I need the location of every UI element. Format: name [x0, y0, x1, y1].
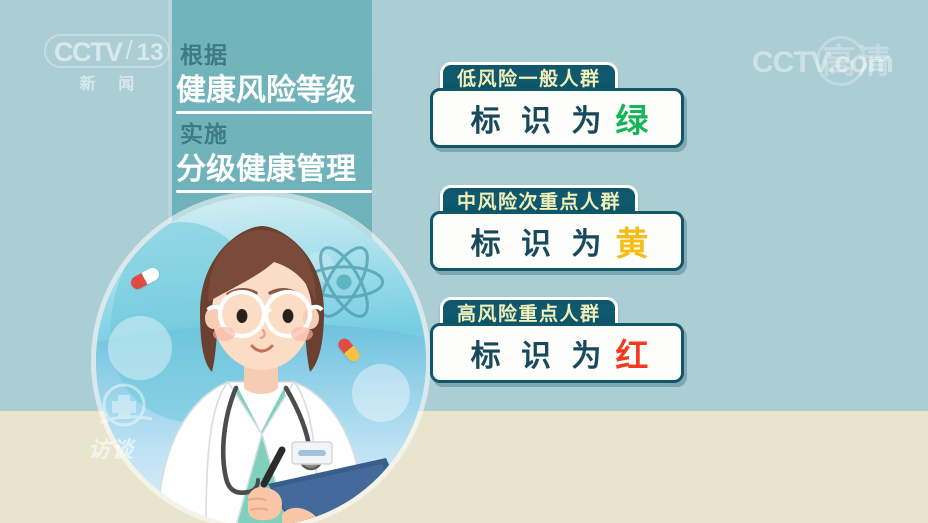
- medical-cross-badge-icon: [96, 383, 158, 433]
- headline-line-3: 实施: [172, 119, 376, 150]
- risk-card-low-value: 绿: [615, 94, 649, 142]
- program-watermark: 访谈: [88, 432, 134, 464]
- risk-card-medium-value: 黄: [615, 217, 649, 265]
- headline-line-2: 健康风险等级: [172, 71, 376, 110]
- risk-card-medium-body: 标 识 为 黄: [430, 211, 684, 271]
- headline-rule-2: [176, 190, 372, 193]
- doctor-illustration-circle: [96, 196, 426, 523]
- doctor-figure: [96, 196, 426, 523]
- risk-card-high-value: 红: [615, 329, 649, 377]
- broadcast-screenshot: CCTV / 13 新 闻 根据 健康风险等级 实施 分级健康管理 高清 CCT…: [0, 0, 928, 523]
- headline-line-4: 分级健康管理: [172, 150, 376, 189]
- logo-channel-number: 13: [137, 39, 164, 67]
- risk-card-low-body: 标 识 为 绿: [430, 88, 684, 148]
- logo-slash-icon: /: [126, 35, 133, 66]
- risk-card-low-label: 标 识 为: [465, 96, 608, 140]
- headline-rule-1: [176, 111, 372, 114]
- logo-cctv-text: CCTV: [54, 37, 122, 68]
- risk-card-high-body: 标 识 为 红: [430, 323, 684, 383]
- cctv-com-watermark: CCTV.com: [752, 46, 893, 80]
- risk-card-low-header-text: 低风险一般人群: [457, 70, 601, 89]
- headline-line-1: 根据: [172, 40, 376, 71]
- cctv13-logo: CCTV / 13 新 闻: [44, 32, 170, 94]
- headline-block: 根据 健康风险等级 实施 分级健康管理: [172, 40, 376, 198]
- risk-card-high-header-text: 高风险重点人群: [457, 305, 601, 324]
- logo-subtitle: 新 闻: [44, 70, 170, 94]
- risk-card-medium-label: 标 识 为: [465, 219, 608, 263]
- risk-card-high-label: 标 识 为: [465, 331, 608, 375]
- risk-card-medium-header-text: 中风险次重点人群: [457, 193, 621, 212]
